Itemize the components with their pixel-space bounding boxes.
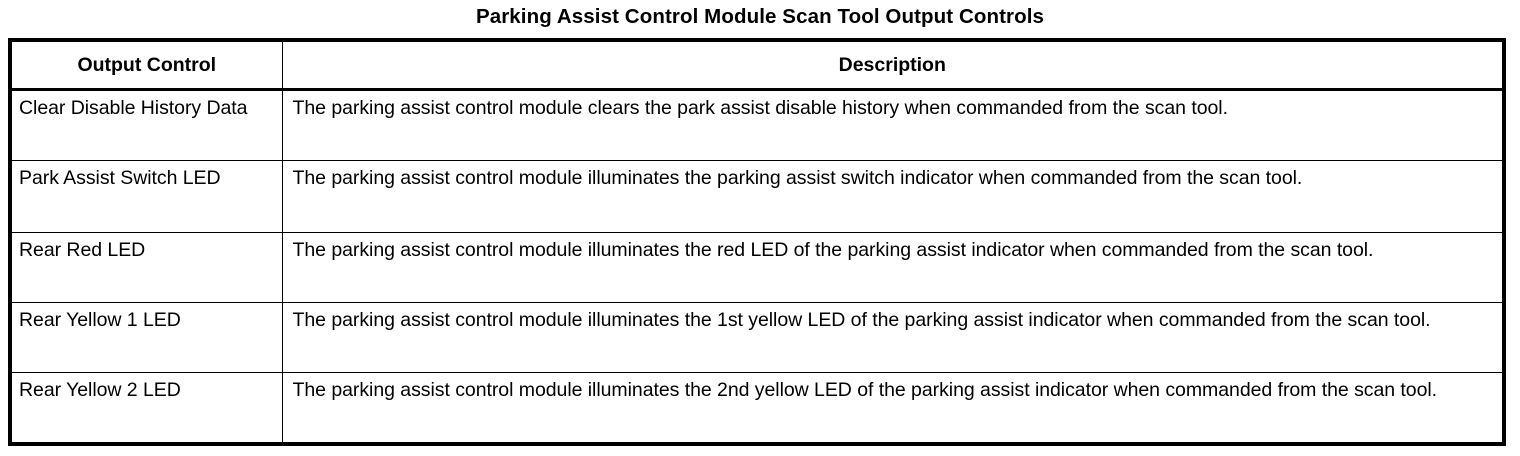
table-row: Park Assist Switch LED The parking assis… xyxy=(10,161,1504,233)
document-page: Parking Assist Control Module Scan Tool … xyxy=(0,0,1520,456)
cell-description: The parking assist control module illumi… xyxy=(282,303,1504,373)
cell-output-control: Park Assist Switch LED xyxy=(10,161,282,233)
table-header-row: Output Control Description xyxy=(10,40,1504,90)
cell-output-control: Clear Disable History Data xyxy=(10,90,282,161)
cell-description: The parking assist control module clears… xyxy=(282,90,1504,161)
column-header-description: Description xyxy=(282,40,1504,90)
table-row: Clear Disable History Data The parking a… xyxy=(10,90,1504,161)
cell-description: The parking assist control module illumi… xyxy=(282,373,1504,445)
cell-output-control: Rear Red LED xyxy=(10,233,282,303)
cell-output-control: Rear Yellow 1 LED xyxy=(10,303,282,373)
table-row: Rear Yellow 1 LED The parking assist con… xyxy=(10,303,1504,373)
table-container: Output Control Description Clear Disable… xyxy=(8,38,1505,446)
cell-description: The parking assist control module illumi… xyxy=(282,161,1504,233)
cell-output-control: Rear Yellow 2 LED xyxy=(10,373,282,445)
table-body: Clear Disable History Data The parking a… xyxy=(10,90,1504,445)
table-header: Output Control Description xyxy=(10,40,1504,90)
scan-tool-output-controls-table: Output Control Description Clear Disable… xyxy=(8,38,1506,446)
table-row: Rear Red LED The parking assist control … xyxy=(10,233,1504,303)
cell-description: The parking assist control module illumi… xyxy=(282,233,1504,303)
page-title: Parking Assist Control Module Scan Tool … xyxy=(0,0,1520,29)
table-row: Rear Yellow 2 LED The parking assist con… xyxy=(10,373,1504,445)
column-header-output-control: Output Control xyxy=(10,40,282,90)
